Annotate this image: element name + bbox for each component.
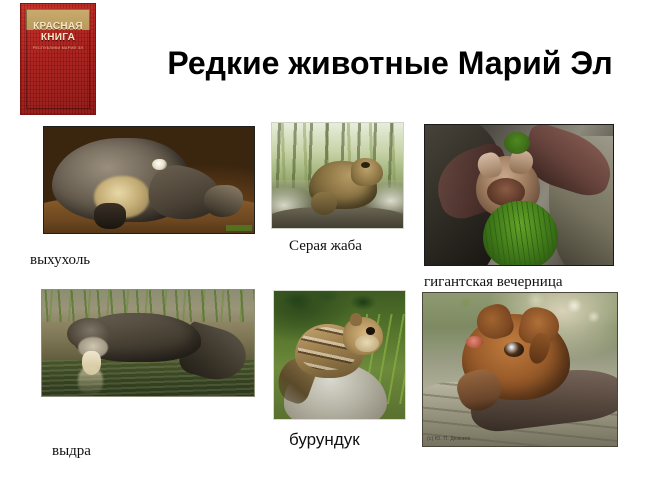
chipmunk-eye bbox=[366, 327, 375, 335]
page-title: Редкие животные Марий Эл bbox=[140, 43, 640, 83]
desman-photo-tag bbox=[226, 225, 252, 231]
photo-toad bbox=[271, 122, 404, 229]
figure-brown-bat: (c) Ю. П. Дюжаев bbox=[422, 292, 618, 447]
bat-nose bbox=[466, 336, 483, 348]
book-title-line1: КРАСНАЯ bbox=[21, 21, 95, 32]
book-title-line2: КНИГА bbox=[21, 32, 95, 43]
bat-eye bbox=[504, 342, 523, 357]
figure-chipmunk bbox=[273, 290, 406, 420]
photo-desman bbox=[43, 126, 255, 234]
chipmunk-ear bbox=[350, 313, 362, 326]
otter-water-reflection bbox=[78, 366, 103, 394]
photo-otter bbox=[41, 289, 255, 397]
figure-otter bbox=[41, 289, 255, 397]
book-title: КРАСНАЯ КНИГА bbox=[21, 21, 95, 43]
slide-canvas: КРАСНАЯ КНИГА РЕСПУБЛИКИ МАРИЙ ЭЛ Редкие… bbox=[0, 0, 659, 494]
red-book-cover-image: КРАСНАЯ КНИГА РЕСПУБЛИКИ МАРИЙ ЭЛ bbox=[20, 3, 96, 115]
photo-giant-noctule bbox=[424, 124, 614, 266]
figure-giant-noctule bbox=[424, 124, 614, 266]
desman-front-paw bbox=[94, 203, 126, 228]
figure-toad bbox=[271, 122, 404, 229]
toad-rock bbox=[271, 207, 404, 229]
caption-toad: Серая жаба bbox=[289, 238, 362, 255]
caption-otter: выдра bbox=[52, 443, 91, 460]
caption-chipmunk: бурундук bbox=[289, 430, 360, 450]
figure-desman bbox=[43, 126, 255, 234]
photo-brown-bat: (c) Ю. П. Дюжаев bbox=[422, 292, 618, 447]
chipmunk-cheek bbox=[355, 335, 379, 353]
bat-photo-watermark: (c) Ю. П. Дюжаев bbox=[427, 436, 470, 442]
book-subtitle: РЕСПУБЛИКИ МАРИЙ ЭЛ bbox=[21, 46, 95, 50]
caption-giant-noctule: гигантская вечерница bbox=[424, 274, 563, 291]
caption-desman: выхухоль bbox=[30, 252, 90, 269]
photo-chipmunk bbox=[273, 290, 406, 420]
